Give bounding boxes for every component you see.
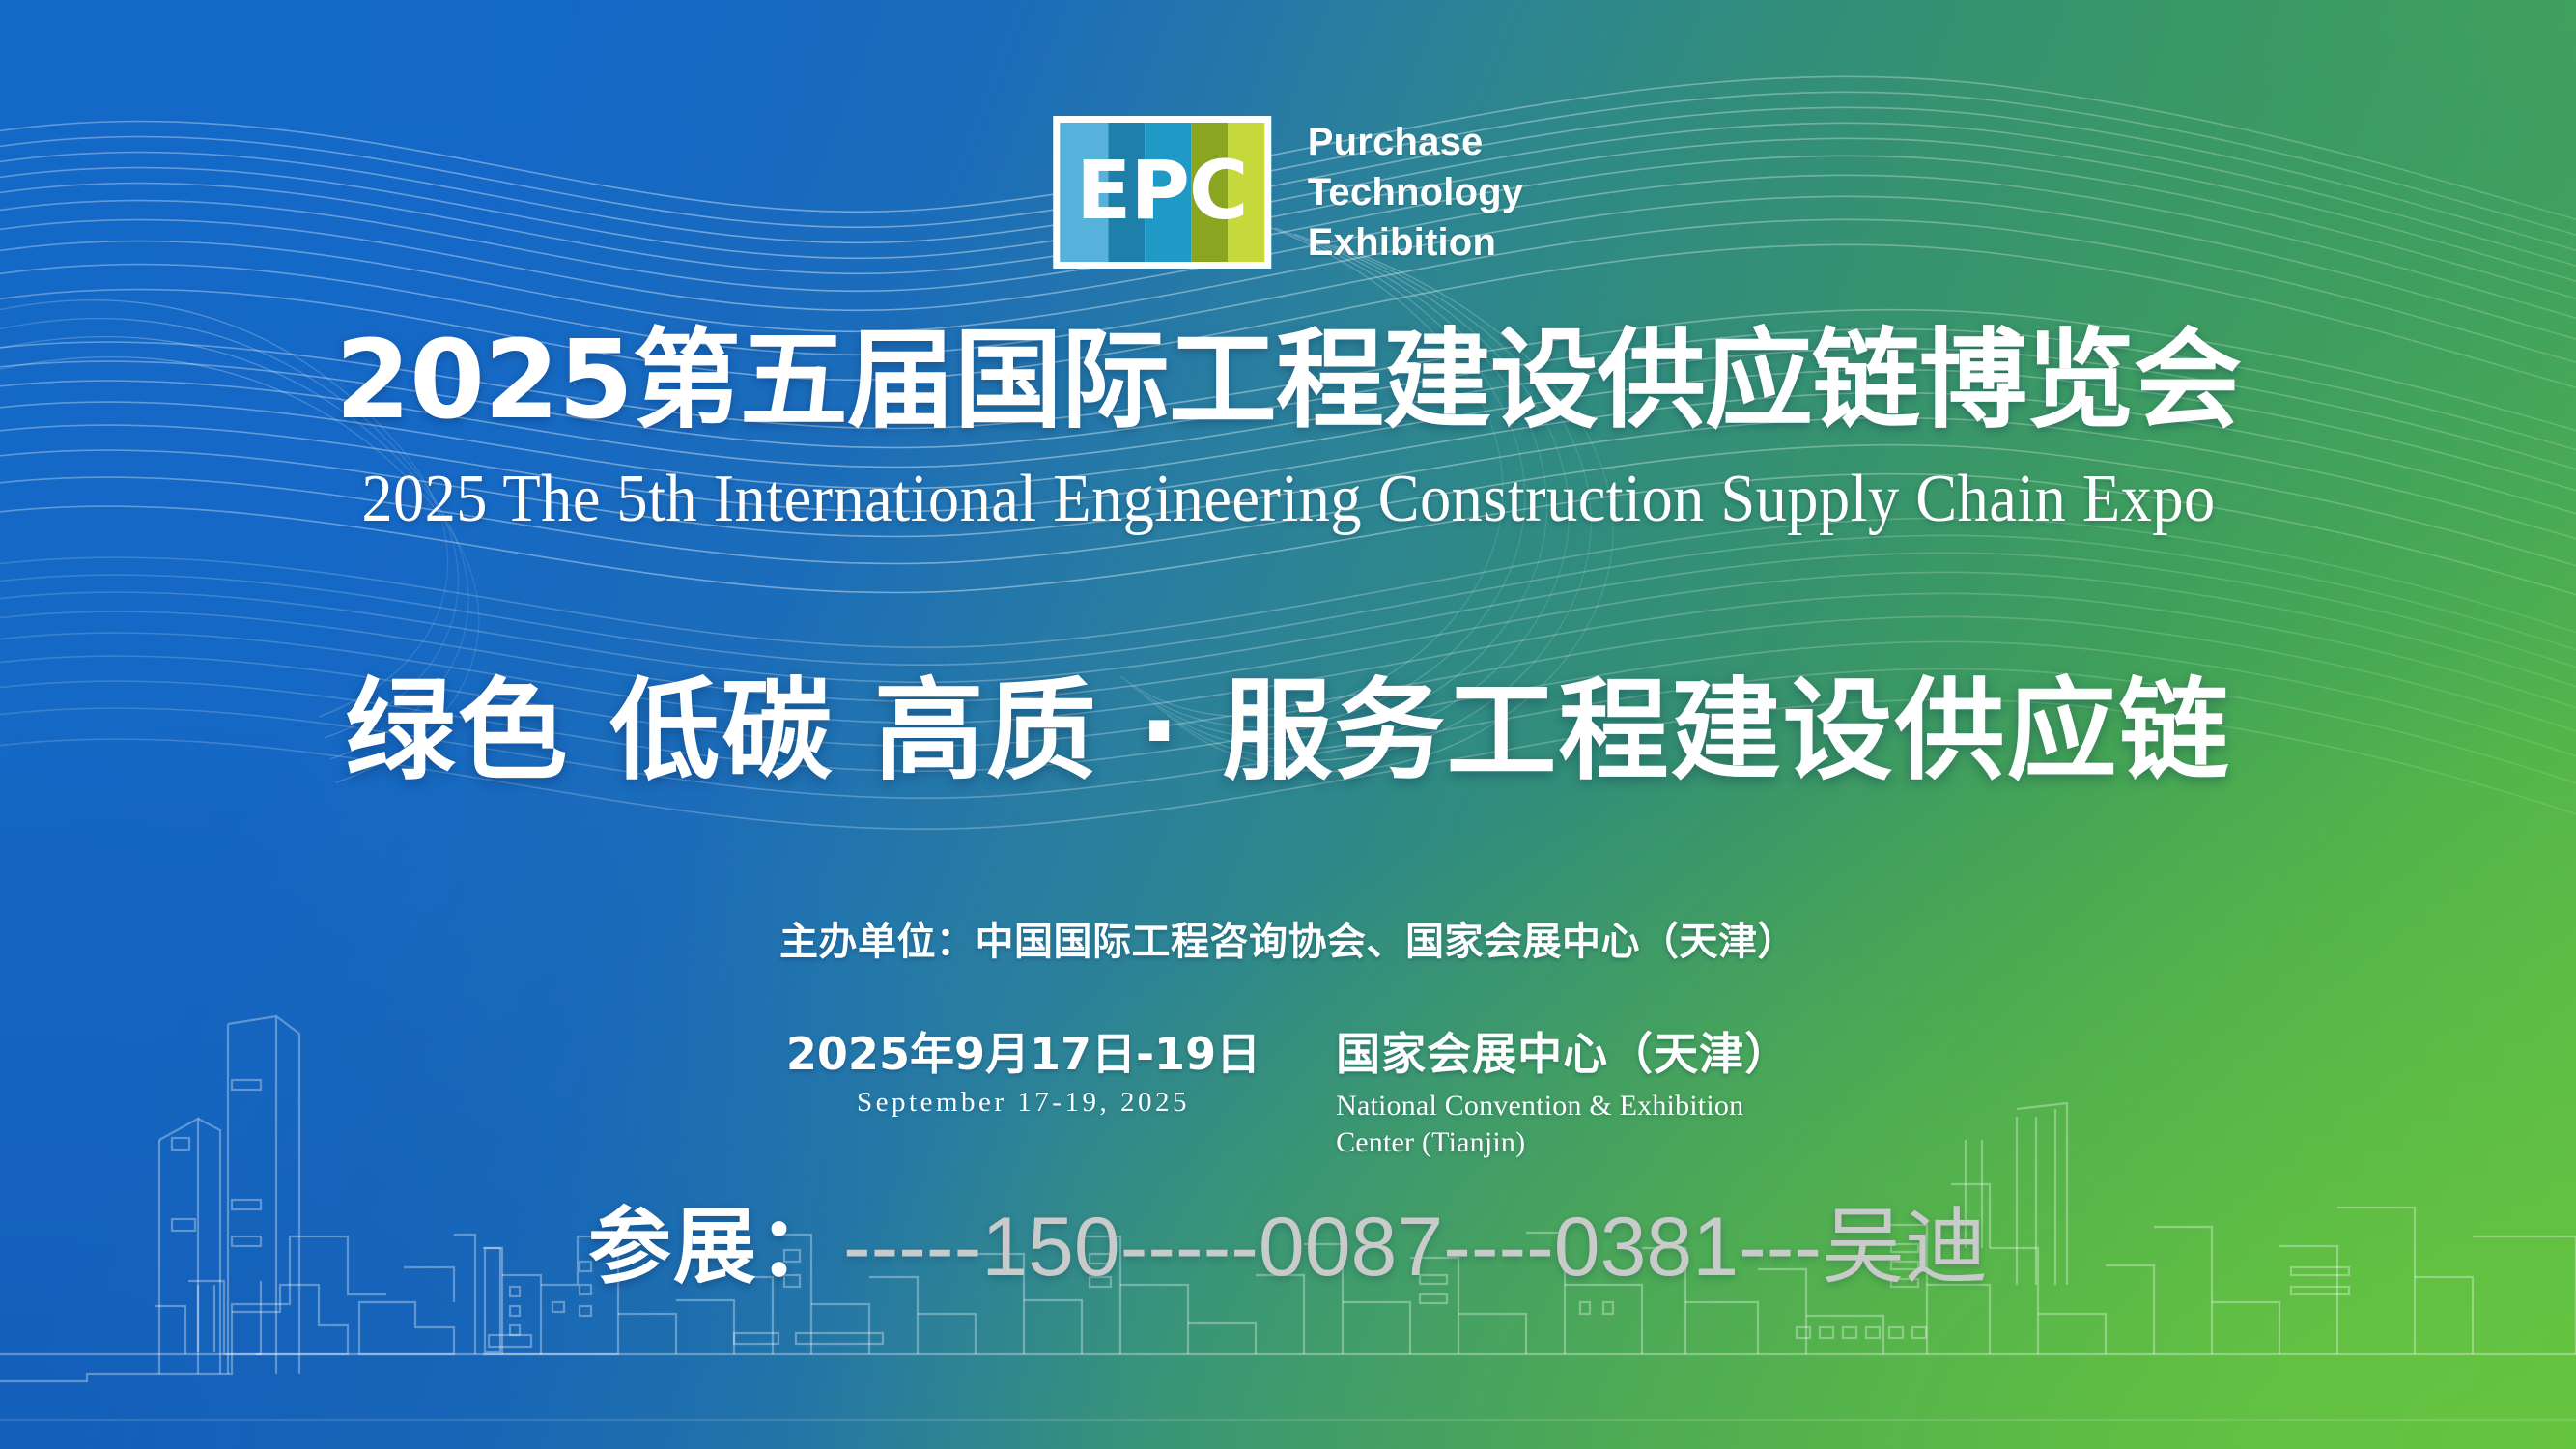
expo-slogan: 绿色 低碳 高质 · 服务工程建设供应链 <box>345 667 2230 797</box>
contact-label: 参展： <box>588 1206 843 1289</box>
event-venue-en: National Convention & Exhibition Center … <box>1336 1088 1790 1161</box>
logo-letters: EPC <box>1053 116 1271 269</box>
logo-tagline: Purchase Technology Exhibition <box>1308 117 1523 268</box>
event-date-cn: 2025年9月17日-19日 <box>786 1030 1260 1080</box>
event-date-block: 2025年9月17日-19日 September 17-19, 2025 <box>786 1030 1260 1119</box>
expo-title-en: 2025 The 5th International Engineering C… <box>361 466 2215 533</box>
expo-title-cn: 2025第五届国际工程建设供应链博览会 <box>335 327 2241 435</box>
event-date-en: September 17-19, 2025 <box>786 1086 1260 1120</box>
event-venue-cn: 国家会展中心（天津） <box>1336 1030 1790 1080</box>
expo-banner: EPC Purchase Technology Exhibition 2025第… <box>0 0 2576 1449</box>
contact-value: -----150-----0087----0381---吴迪 <box>843 1206 1988 1289</box>
epc-logo-lockup: EPC Purchase Technology Exhibition <box>1053 116 1523 269</box>
organizer-line: 主办单位：中国国际工程咨询协会、国家会展中心（天津） <box>779 923 1797 961</box>
banner-content: EPC Purchase Technology Exhibition 2025第… <box>0 0 2576 1449</box>
logo-tagline-line-1: Purchase <box>1308 117 1523 167</box>
epc-logo-mark: EPC <box>1053 116 1271 269</box>
contact-line: 参展： -----150-----0087----0381---吴迪 <box>588 1206 1988 1289</box>
logo-tagline-line-2: Technology <box>1308 167 1523 217</box>
logo-tagline-line-3: Exhibition <box>1308 217 1523 268</box>
event-venue-block: 国家会展中心（天津） National Convention & Exhibit… <box>1336 1030 1790 1161</box>
event-info-row: 2025年9月17日-19日 September 17-19, 2025 国家会… <box>786 1030 1790 1161</box>
